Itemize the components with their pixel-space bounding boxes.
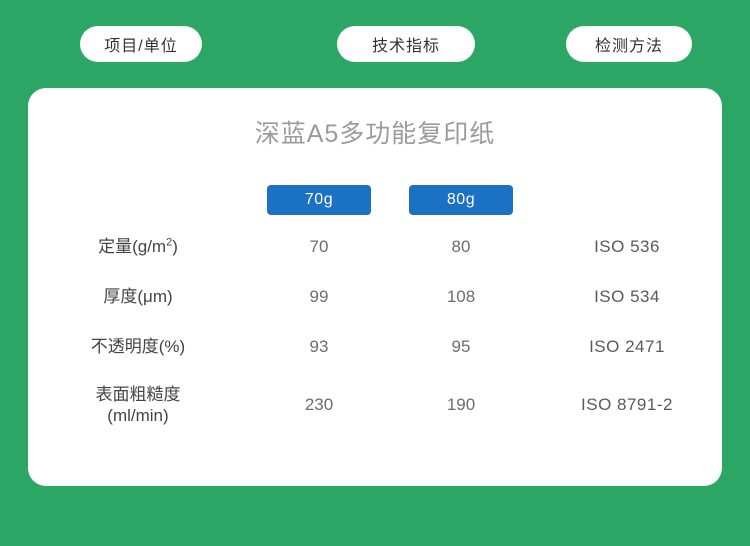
row-value-80g: 80: [390, 237, 532, 257]
row-label-text: 厚度(μm): [103, 287, 172, 306]
row-value-80g: 95: [390, 337, 532, 357]
header-cell-70g: 70g: [248, 185, 390, 215]
weight-tag-70g: 70g: [267, 185, 371, 215]
row-method: ISO 534: [532, 287, 722, 307]
row-label-tail: (ml/min): [107, 406, 168, 425]
row-label: 不透明度(%): [28, 336, 248, 357]
row-label: 定量(g/m2): [28, 236, 248, 257]
pill-project-unit[interactable]: 项目/单位: [80, 26, 202, 62]
row-label-tail: ): [172, 237, 178, 256]
spec-table: 70g 80g 定量(g/m2) 70 80 ISO 536 厚度(μm) 99…: [28, 178, 722, 438]
header-cell-80g: 80g: [390, 185, 532, 215]
pill-label: 项目/单位: [104, 32, 177, 56]
row-value-80g: 108: [390, 287, 532, 307]
row-label: 厚度(μm): [28, 286, 248, 307]
row-method: ISO 8791-2: [532, 395, 722, 415]
table-row: 表面粗糙度(ml/min) 230 190 ISO 8791-2: [28, 372, 722, 438]
pill-label: 技术指标: [372, 32, 440, 56]
spec-card: 深蓝A5多功能复印纸 70g 80g 定量(g/m2) 70 80 ISO 53…: [28, 88, 722, 486]
pill-row: 项目/单位 技术指标 检测方法: [0, 26, 750, 64]
row-value-80g: 190: [390, 395, 532, 415]
table-header-row: 70g 80g: [28, 178, 722, 222]
table-row: 定量(g/m2) 70 80 ISO 536: [28, 222, 722, 272]
row-value-70g: 230: [248, 395, 390, 415]
row-label-text: 定量(g/m: [98, 237, 166, 256]
row-label-text: 表面粗糙度: [96, 385, 181, 404]
pill-label: 检测方法: [595, 32, 663, 56]
pill-test-method[interactable]: 检测方法: [566, 26, 692, 62]
pill-technical-index[interactable]: 技术指标: [337, 26, 475, 62]
row-value-70g: 93: [248, 337, 390, 357]
row-method: ISO 2471: [532, 337, 722, 357]
page-title: 深蓝A5多功能复印纸: [28, 114, 722, 150]
row-value-70g: 70: [248, 237, 390, 257]
table-row: 厚度(μm) 99 108 ISO 534: [28, 272, 722, 322]
weight-tag-80g: 80g: [409, 185, 513, 215]
table-row: 不透明度(%) 93 95 ISO 2471: [28, 322, 722, 372]
product-spec-page: 项目/单位 技术指标 检测方法 深蓝A5多功能复印纸 70g 80g 定量(g/: [0, 0, 750, 546]
row-label: 表面粗糙度(ml/min): [28, 384, 248, 427]
row-label-text: 不透明度(%): [91, 337, 185, 356]
row-method: ISO 536: [532, 237, 722, 257]
row-value-70g: 99: [248, 287, 390, 307]
